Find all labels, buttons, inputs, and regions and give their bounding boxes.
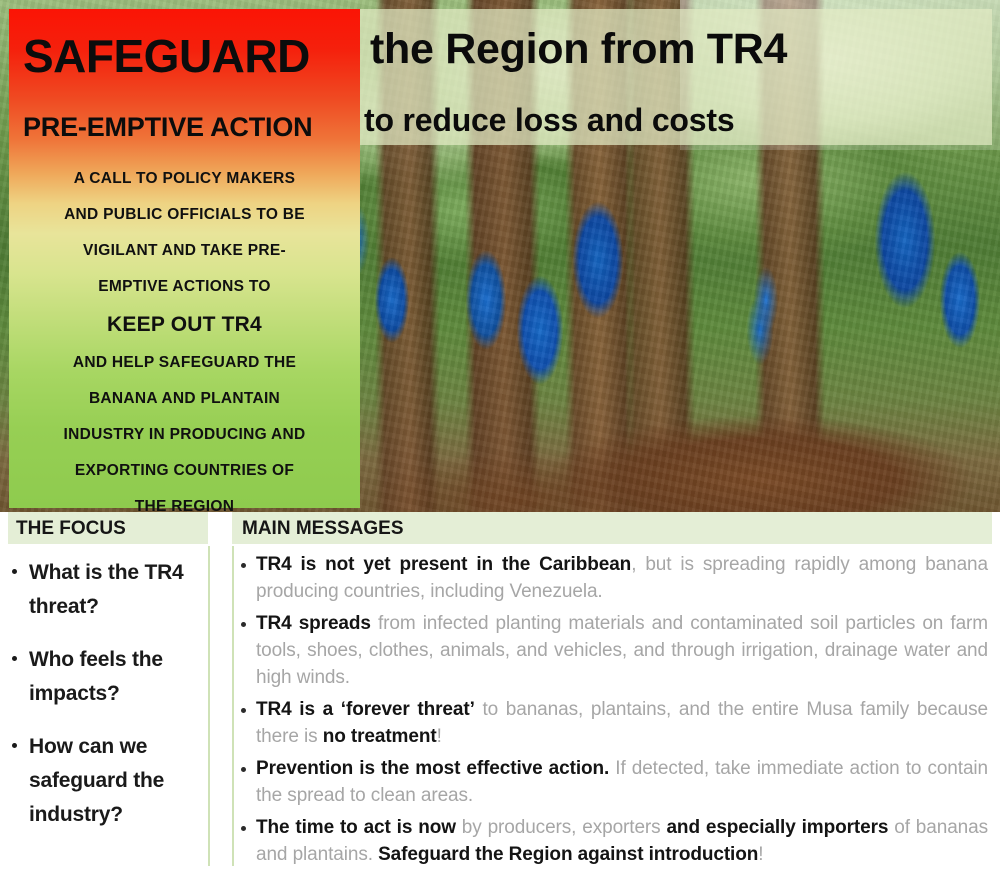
callout-body-line: THE REGION	[25, 489, 344, 512]
focus-list-item: Who feels the impacts?	[10, 643, 202, 710]
message-text: !	[758, 844, 763, 865]
callout-body-line: AND PUBLIC OFFICIALS TO BE	[25, 197, 344, 233]
message-bold-text: Safeguard the Region against introductio…	[378, 844, 758, 865]
callout-headline: SAFEGUARD	[23, 33, 310, 79]
main-message-item: TR4 spreads from infected planting mater…	[240, 611, 988, 692]
main-messages-heading-label: MAIN MESSAGES	[242, 518, 404, 540]
column-divider-right	[232, 546, 234, 866]
callout-body-line: VIGILANT AND TAKE PRE-	[25, 233, 344, 269]
focus-section-header: THE FOCUS	[8, 512, 208, 544]
callout-subheadline: PRE-EMPTIVE ACTION	[23, 114, 312, 141]
hero-title-line2: to reduce loss and costs	[364, 104, 734, 136]
message-bold-text: and especially importers	[666, 817, 888, 838]
callout-body-line: EMPTIVE ACTIONS TO	[25, 269, 344, 305]
message-bold-text: TR4 is not yet present in the Caribbean	[256, 554, 631, 575]
message-bold-text: Prevention is the most effective action.	[256, 758, 609, 779]
hero-photo-section: the Region from TR4 to reduce loss and c…	[0, 0, 1000, 512]
poster-root: the Region from TR4 to reduce loss and c…	[0, 0, 1000, 890]
callout-gradient-panel: SAFEGUARD PRE-EMPTIVE ACTION A CALL TO P…	[9, 9, 360, 508]
focus-heading-label: THE FOCUS	[16, 518, 126, 540]
message-bold-text: The time to act is now	[256, 817, 456, 838]
main-messages-list: TR4 is not yet present in the Caribbean,…	[240, 552, 988, 874]
callout-body-line: AND HELP SAFEGUARD THE	[25, 345, 344, 381]
column-divider-left	[208, 546, 210, 866]
message-text: by producers, exporters	[456, 817, 667, 838]
callout-body-line: A CALL TO POLICY MAKERS	[25, 161, 344, 197]
callout-body: A CALL TO POLICY MAKERS AND PUBLIC OFFIC…	[25, 161, 344, 512]
main-message-item: Prevention is the most effective action.…	[240, 756, 988, 810]
message-bold-text: TR4 is a ‘forever threat’	[256, 699, 475, 720]
focus-question-list: What is the TR4 threat?Who feels the imp…	[10, 556, 202, 851]
callout-emphasis: KEEP OUT TR4	[25, 305, 344, 345]
hero-title-line1: the Region from TR4	[370, 28, 787, 71]
main-message-item: TR4 is a ‘forever threat’ to bananas, pl…	[240, 697, 988, 751]
callout-body-line: INDUSTRY IN PRODUCING AND	[25, 417, 344, 453]
message-bold-text: TR4 spreads	[256, 613, 371, 634]
callout-body-line: BANANA AND PLANTAIN	[25, 381, 344, 417]
message-bold-text: no treatment	[323, 726, 437, 747]
main-messages-section-header: MAIN MESSAGES	[232, 512, 992, 544]
callout-body-line: EXPORTING COUNTRIES OF	[25, 453, 344, 489]
focus-list-item: How can we safeguard the industry?	[10, 730, 202, 831]
main-message-item: TR4 is not yet present in the Caribbean,…	[240, 552, 988, 606]
message-text: !	[437, 726, 442, 747]
main-message-item: The time to act is now by producers, exp…	[240, 815, 988, 869]
focus-list-item: What is the TR4 threat?	[10, 556, 202, 623]
